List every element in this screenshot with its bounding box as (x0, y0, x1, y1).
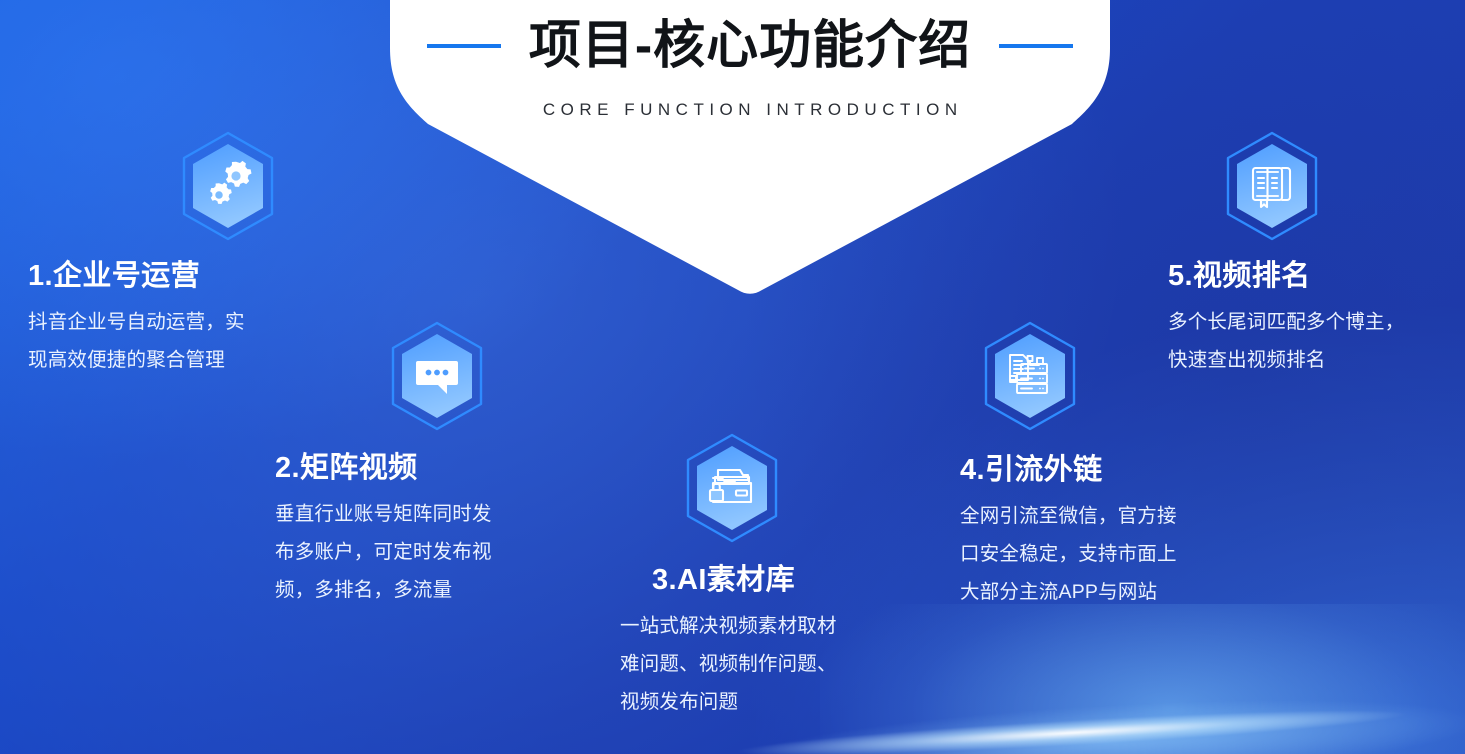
feature-desc-line: 口安全稳定，支持市面上 (960, 536, 1260, 574)
title-row: 项目-核心功能介绍 (330, 0, 1170, 92)
feature-title: 4.引流外链 (960, 454, 1260, 487)
gears-icon (176, 130, 280, 242)
feature-desc-line: 频，多排名，多流量 (275, 572, 575, 610)
feature-title: 1.企业号运营 (28, 260, 328, 293)
feature-desc-line: 大部分主流APP与网站 (960, 574, 1260, 612)
folder-lock-icon (680, 432, 784, 544)
title-rule-left (427, 44, 501, 48)
feature-desc-line: 多个长尾词匹配多个博主， (1168, 304, 1465, 342)
feature-item-5[interactable]: 5.视频排名 多个长尾词匹配多个博主， 快速查出视频排名 (1168, 130, 1465, 380)
feature-desc-line: 视频发布问题 (620, 684, 920, 722)
feature-title: 3.AI素材库 (652, 564, 920, 597)
feature-desc-line: 快速查出视频排名 (1168, 342, 1465, 380)
book-icon (1220, 130, 1324, 242)
feature-desc-line: 一站式解决视频素材取材 (620, 608, 920, 646)
title-rule-right (999, 44, 1073, 48)
feature-description: 一站式解决视频素材取材 难问题、视频制作问题、 视频发布问题 (620, 608, 920, 721)
feature-item-3[interactable]: 3.AI素材库 一站式解决视频素材取材 难问题、视频制作问题、 视频发布问题 (620, 432, 920, 721)
chat-bubble-icon (385, 320, 489, 432)
feature-desc-line: 全网引流至微信，官方接 (960, 498, 1260, 536)
page-subtitle: CORE FUNCTION INTRODUCTION (330, 100, 1170, 120)
feature-title: 2.矩阵视频 (275, 452, 575, 485)
feature-desc-line: 布多账户，可定时发布视 (275, 534, 575, 572)
feature-description: 多个长尾词匹配多个博主， 快速查出视频排名 (1168, 304, 1465, 379)
feature-item-2[interactable]: 2.矩阵视频 垂直行业账号矩阵同时发 布多账户，可定时发布视 频，多排名，多流量 (275, 320, 575, 609)
slide-root: 项目-核心功能介绍 CORE FUNCTION INTRODUCTION (0, 0, 1465, 754)
feature-description: 垂直行业账号矩阵同时发 布多账户，可定时发布视 频，多排名，多流量 (275, 496, 575, 609)
feature-title: 5.视频排名 (1168, 260, 1465, 293)
feature-desc-line: 垂直行业账号矩阵同时发 (275, 496, 575, 534)
server-document-icon (978, 320, 1082, 432)
title-block: 项目-核心功能介绍 CORE FUNCTION INTRODUCTION (330, 0, 1170, 120)
feature-description: 全网引流至微信，官方接 口安全稳定，支持市面上 大部分主流APP与网站 (960, 498, 1260, 611)
page-title: 项目-核心功能介绍 (529, 20, 971, 72)
feature-desc-line: 难问题、视频制作问题、 (620, 646, 920, 684)
